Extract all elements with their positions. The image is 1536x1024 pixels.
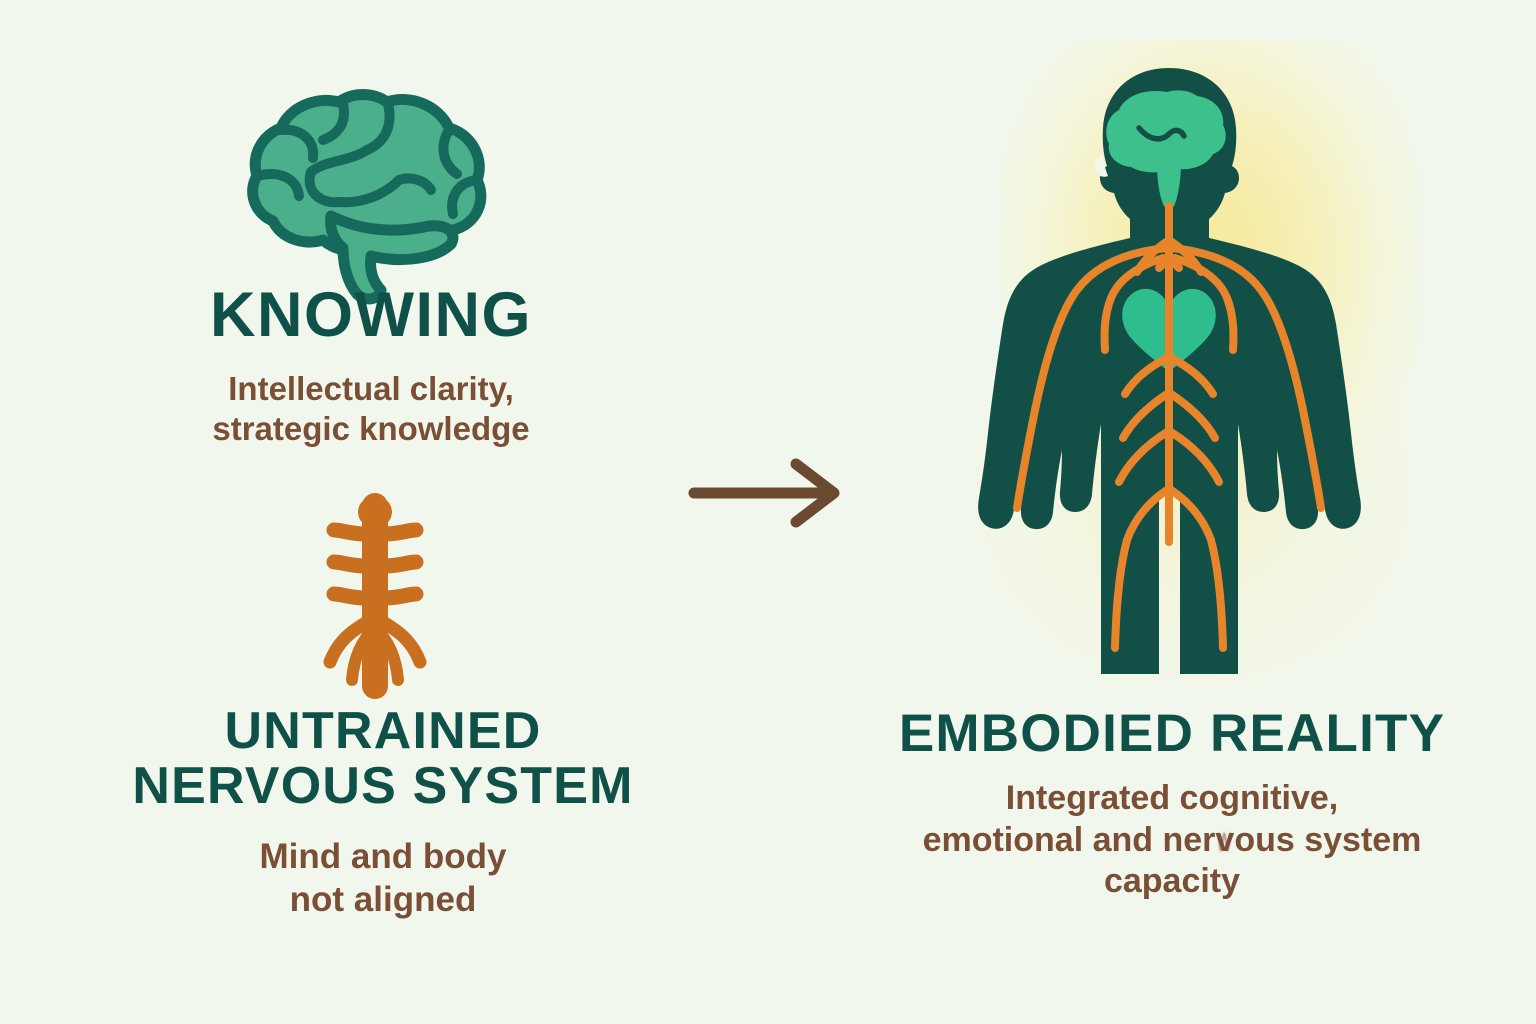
- embodied-subtext-line3: capacity: [1104, 862, 1240, 900]
- spinal-cord-icon: [300, 490, 450, 690]
- untrained-subtext-line2: not aligned: [290, 880, 477, 919]
- embodied-subtext-line2-before: emotional and: [923, 821, 1163, 859]
- untrained-subtext: Mind and body not aligned: [73, 836, 693, 921]
- knowing-block: KNOWING Intellectual clarity, strategic …: [96, 282, 646, 449]
- embodied-subtext-smeared-word: nervous: [1163, 820, 1295, 861]
- untrained-nervous-system-block: UNTRAINED NERVOUS SYSTEM Mind and body n…: [73, 704, 693, 922]
- infographic-canvas: KNOWING Intellectual clarity, strategic …: [0, 0, 1536, 1024]
- untrained-heading-line1: UNTRAINED: [224, 702, 541, 760]
- embodied-subtext-line1: Integrated cognitive,: [1006, 779, 1339, 817]
- human-nervous-system-figure: [967, 62, 1372, 687]
- knowing-subtext-line2: strategic knowledge: [212, 410, 529, 447]
- embodied-heading: EMBODIED REALITY: [836, 706, 1508, 762]
- knowing-subtext-line1: Intellectual clarity,: [228, 370, 514, 407]
- right-arrow-icon: [688, 458, 848, 528]
- embodied-subtext: Integrated cognitive, emotional and nerv…: [836, 778, 1508, 902]
- brain-icon: [243, 84, 493, 264]
- embodied-reality-block: EMBODIED REALITY Integrated cognitive, e…: [836, 706, 1508, 903]
- knowing-heading: KNOWING: [96, 282, 646, 349]
- untrained-subtext-line1: Mind and body: [260, 837, 507, 876]
- untrained-heading-line2: NERVOUS SYSTEM: [132, 757, 633, 815]
- untrained-heading: UNTRAINED NERVOUS SYSTEM: [73, 704, 693, 814]
- knowing-subtext: Intellectual clarity, strategic knowledg…: [96, 369, 646, 450]
- embodied-subtext-line2-after: system: [1295, 821, 1422, 859]
